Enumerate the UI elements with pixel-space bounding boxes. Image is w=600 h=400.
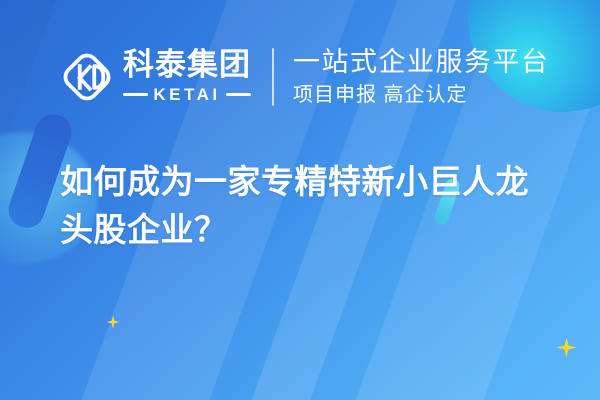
slogan-sub: 项目申报 高企认定 — [293, 83, 550, 107]
wordmark-rule-left — [123, 93, 148, 96]
brand-name-en: KETAI — [153, 85, 220, 105]
promo-banner: 科泰集团 KETAI 一站式企业服务平台 项目申报 高企认定 如何成为一家专精特… — [0, 0, 600, 400]
wordmark-rule-right — [226, 93, 251, 96]
banner-headline: 如何成为一家专精特新小巨人龙头股企业？ — [60, 158, 555, 254]
brand-name-en-row: KETAI — [123, 85, 251, 105]
ketai-kd-monogram-logo — [58, 48, 116, 106]
slogan-main: 一站式企业服务平台 — [293, 47, 550, 77]
sparkle-small-left — [107, 316, 119, 328]
banner-header: 科泰集团 KETAI 一站式企业服务平台 项目申报 高企认定 — [58, 36, 550, 118]
brand-name-cn: 科泰集团 — [123, 49, 251, 81]
header-divider — [272, 48, 274, 106]
sparkle-large-right — [557, 338, 576, 357]
header-slogan: 一站式企业服务平台 项目申报 高企认定 — [293, 47, 550, 106]
brand-wordmark: 科泰集团 KETAI — [123, 49, 251, 104]
